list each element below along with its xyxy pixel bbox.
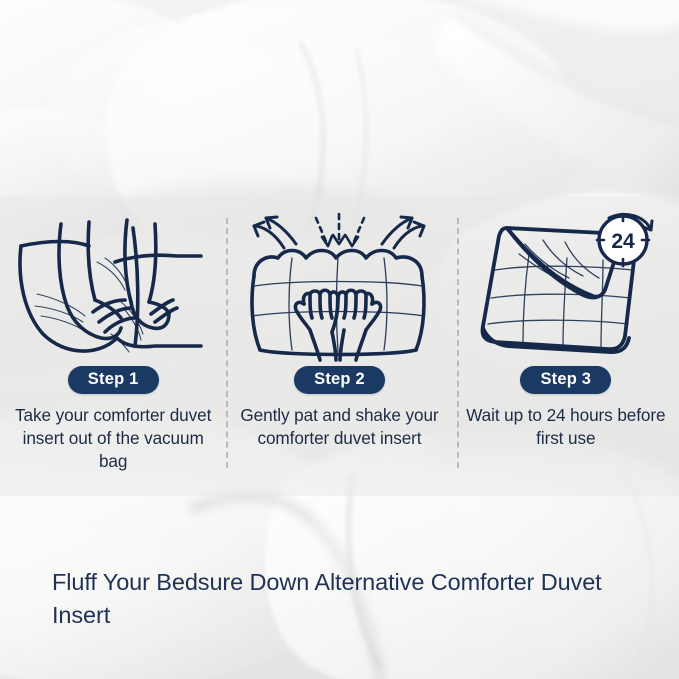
step-1-badge: Step 1 — [68, 366, 159, 394]
step-3-illustration: 24 — [453, 208, 679, 360]
step-2-caption: Gently pat and shake your comforter duve… — [237, 404, 442, 450]
patting-hands — [296, 290, 339, 360]
step-1-illustration — [0, 208, 226, 360]
step-3-badge: Step 3 — [520, 366, 611, 394]
steps-row: Step 1 Take your comforter duvet insert … — [0, 208, 679, 486]
timer-24-label: 24 — [611, 230, 635, 253]
step-card-1: Step 1 Take your comforter duvet insert … — [0, 208, 226, 486]
step-2-illustration — [226, 208, 452, 360]
step-card-3: 24 Step 3 Wait up to 24 hours before fir… — [453, 208, 679, 486]
step-2-badge: Step 2 — [294, 366, 385, 394]
step-card-2: Step 2 Gently pat and shake your comfort… — [226, 208, 452, 486]
step-1-caption: Take your comforter duvet insert out of … — [11, 404, 216, 473]
infographic-canvas: Step 1 Take your comforter duvet insert … — [0, 0, 679, 679]
step-3-caption: Wait up to 24 hours before first use — [466, 404, 666, 450]
headline: Fluff Your Bedsure Down Alternative Comf… — [52, 566, 666, 633]
timer-24-badge: 24 — [597, 214, 652, 266]
